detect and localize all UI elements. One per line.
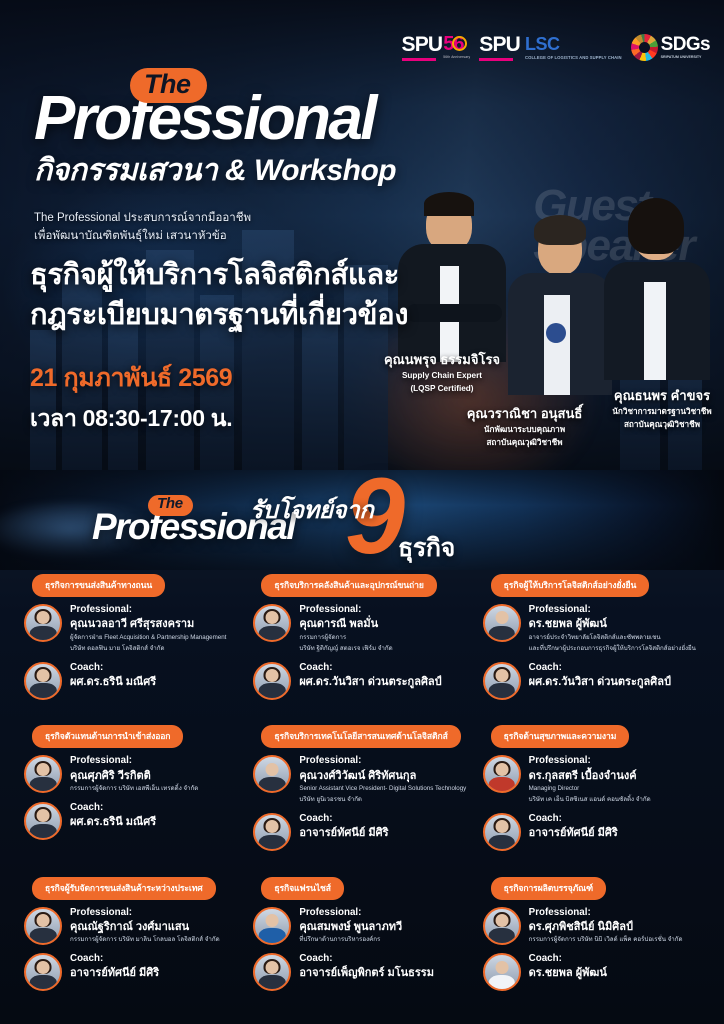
- professional-block: Professional: ดร.ศุภพิชสินีย์ นิมิศิลป์ …: [483, 907, 702, 946]
- event-date: 21 กุมภาพันธ์ 2569: [30, 358, 232, 398]
- professional-desc-1: ที่ปรึกษาด้านการบริหารองค์กร: [299, 936, 402, 945]
- coach-label: Coach:: [529, 662, 671, 674]
- coach-block: Coach: อาจารย์ทัศนีย์ มีศิริ: [253, 813, 472, 851]
- business-card[interactable]: ธุรกิจผู้ให้บริการโลจิสติกส์อย่างยั่งยืน…: [477, 570, 706, 721]
- avatar: [24, 604, 62, 642]
- coach-label: Coach:: [299, 813, 388, 825]
- avatar: [253, 662, 291, 700]
- business-card[interactable]: ธุรกิจบริการคลังสินค้าและอุปกรณ์ขนถ่าย P…: [247, 570, 476, 721]
- professional-block: Professional: คุณดารณี พลมั่น กรรมการผู้…: [253, 604, 472, 654]
- event-datetime: 21 กุมภาพันธ์ 2569 เวลา 08:30-17:00 น.: [30, 358, 232, 437]
- professional-desc-1: กรรมการผู้จัดการ บริษัท เอสพีเอ็น เทรดดิ…: [70, 785, 198, 794]
- lsc-wordmark: LSC: [525, 35, 622, 53]
- professional-label: Professional:: [529, 604, 696, 616]
- avatar: [483, 755, 521, 793]
- professional-desc-1: กรรมการผู้จัดการ: [299, 634, 392, 643]
- professional-name: ดร.ศุภพิชสินีย์ นิมิศิลป์: [529, 920, 683, 934]
- speaker-role-3-line1: นักวิชาการมาตรฐานวิชาชีพ: [600, 406, 724, 417]
- avatar: [483, 953, 521, 991]
- business-card[interactable]: ธุรกิจตัวแทนด้านการนำเข้าส่งออก Professi…: [18, 721, 247, 872]
- coach-name: ผศ.ดร.วันวิสา ด่วนตระกูลศิลป์: [299, 675, 441, 689]
- spu-wordmark: SPU: [402, 34, 443, 55]
- coach-name: ดร.ชยพล ผู้พัฒน์: [529, 966, 607, 980]
- lsc-logo: LSC COLLEGE OF LOGISTICS AND SUPPLY CHAI…: [525, 35, 622, 61]
- professional-block: Professional: ดร.กุลสตรี เบื้องจำนงค์ Ma…: [483, 755, 702, 805]
- avatar: [253, 813, 291, 851]
- sdg-wordmark: SDGs: [661, 35, 710, 54]
- coach-label: Coach:: [529, 953, 607, 965]
- headline-line-2: กฎระเบียบมาตรฐานที่เกี่ยวข้อง: [30, 295, 408, 335]
- spu-pink-bar: [402, 58, 436, 61]
- avatar: [24, 953, 62, 991]
- business-card[interactable]: ธุรกิจการผลิตบรรจุภัณฑ์ Professional: ดร…: [477, 873, 706, 1024]
- professional-desc-1: กรรมการผู้จัดการ บริษัท มาลิน โกลบอล โลจ…: [70, 936, 220, 945]
- business-grid: ธุรกิจการขนส่งสินค้าทางถนน Professional:…: [0, 570, 724, 1024]
- lsc-subtitle: COLLEGE OF LOGISTICS AND SUPPLY CHAIN: [525, 55, 622, 61]
- professional-label: Professional:: [529, 755, 651, 767]
- business-card[interactable]: ธุรกิจด้านสุขภาพและความงาม Professional:…: [477, 721, 706, 872]
- coach-block: Coach: อาจารย์ทัศนีย์ มีศิริ: [483, 813, 702, 851]
- coach-name: อาจารย์ทัศนีย์ มีศิริ: [70, 966, 159, 980]
- speaker-role-2-line1: นักพัฒนาระบบคุณภาพ: [432, 424, 617, 435]
- card-title-badge: ธุรกิจการผลิตบรรจุภัณฑ์: [491, 877, 606, 900]
- headline-line-1: ธุรกิจผู้ให้บริการโลจิสติกส์และ: [30, 255, 408, 295]
- business-card[interactable]: ธุรกิจบริการเทคโนโลยีสารสนเทศด้านโลจิสติ…: [247, 721, 476, 872]
- professional-name: คุณวงศ์วิวัฒน์ ศิริทัศนกุล: [299, 769, 466, 783]
- professional-desc-2: บริษัท ยูนิเวอรชน จำกัด: [299, 796, 466, 805]
- business-card[interactable]: ธุรกิจแฟรนไชส์ Professional: คุณสมพงษ์ พ…: [247, 873, 476, 1024]
- spu-pink-bar-2: [479, 58, 513, 61]
- coach-block: Coach: อาจารย์ทัศนีย์ มีศิริ: [24, 953, 243, 991]
- avatar: [483, 662, 521, 700]
- card-title-badge: ธุรกิจบริการเทคโนโลยีสารสนเทศด้านโลจิสติ…: [261, 725, 460, 748]
- coach-name: อาจารย์เพ็ญพิกตร์ มโนธรรม: [299, 966, 434, 980]
- professional-desc-2: และที่ปรึกษาผู้ประกอบการธุรกิจผู้ให้บริก…: [529, 645, 696, 654]
- anniversary-mark: 56 56th Anniversary: [443, 34, 470, 59]
- professional-name: คุณสมพงษ์ พูนลาภทวี: [299, 920, 402, 934]
- professional-block: Professional: คุณนวลอาวี ศรีสุรสงคราม ผู…: [24, 604, 243, 654]
- mid-the-badge: The: [148, 495, 193, 516]
- avatar: [253, 604, 291, 642]
- poster-title-block: The Professional กิจกรรมเสวนา & Workshop: [34, 70, 396, 194]
- professional-name: ดร.กุลสตรี เบื้องจำนงค์: [529, 769, 651, 783]
- poster-root: SPU 56 56th Anniversary SPU LSC COLLEGE: [0, 0, 724, 1024]
- page-subtitle: กิจกรรมเสวนา & Workshop: [34, 147, 396, 194]
- coach-block: Coach: ผศ.ดร.ธรินี มณีศรี: [24, 662, 243, 700]
- professional-name: คุณณัฐริกาณ์ วงศ์มาแสน: [70, 920, 220, 934]
- professional-label: Professional:: [70, 604, 226, 616]
- professional-label: Professional:: [299, 604, 392, 616]
- professional-label: Professional:: [529, 907, 683, 919]
- speaker-caption-1: คุณนพรุจ ธรรมจิโรจ Supply Chain Expert (…: [352, 352, 532, 394]
- spu-lsc-logo: SPU LSC COLLEGE OF LOGISTICS AND SUPPLY …: [479, 34, 621, 61]
- professional-desc-1: อาจารย์ประจำวิทยาลัยโลจิสติกส์และซัพพลาย…: [529, 634, 696, 643]
- coach-block: Coach: อาจารย์เพ็ญพิกตร์ มโนธรรม: [253, 953, 472, 991]
- avatar: [24, 755, 62, 793]
- avatar: [483, 604, 521, 642]
- professional-name: คุณศุภศิริ วีรกิตติ: [70, 769, 198, 783]
- professional-label: Professional:: [70, 755, 198, 767]
- speaker-role-3-line2: สถาบันคุณวุฒิวิชาชีพ: [600, 419, 724, 430]
- avatar: [24, 802, 62, 840]
- coach-label: Coach:: [70, 953, 159, 965]
- professional-desc-1: กรรมการผู้จัดการ บริษัท นิบิ เวิลด์ แพ็ค…: [529, 936, 683, 945]
- coach-block: Coach: ผศ.ดร.วันวิสา ด่วนตระกูลศิลป์: [253, 662, 472, 700]
- lead-line-2: เพื่อพัฒนาบัณฑิตพันธุ์ใหม่ เสวนาหัวข้อ: [34, 228, 251, 246]
- professional-block: Professional: คุณวงศ์วิวัฒน์ ศิริทัศนกุล…: [253, 755, 472, 805]
- speaker-role-1-line2: (LQSP Certified): [352, 383, 532, 394]
- card-title-badge: ธุรกิจตัวแทนด้านการนำเข้าส่งออก: [32, 725, 183, 748]
- avatar: [253, 755, 291, 793]
- sdg-logo: SDGs SRIPATUM UNIVERSITY: [631, 34, 710, 61]
- professional-desc-2: บริษัท ฐิติกัญญ์ สตอเรจ เฟิร์ม จำกัด: [299, 645, 392, 654]
- avatar: [483, 813, 521, 851]
- card-title-badge: ธุรกิจด้านสุขภาพและความงาม: [491, 725, 630, 748]
- professional-label: Professional:: [299, 907, 402, 919]
- sdg-subtitle: SRIPATUM UNIVERSITY: [661, 56, 710, 60]
- topic-headline: ธุรกิจผู้ให้บริการโลจิสติกส์และ กฎระเบีย…: [30, 255, 408, 335]
- mid-turakit-text: ธุรกิจ: [398, 528, 455, 568]
- speaker-caption-2: คุณวราณิชา อนุสนธิ์ นักพัฒนาระบบคุณภาพ ส…: [432, 406, 617, 448]
- card-title-badge: ธุรกิจผู้ให้บริการโลจิสติกส์อย่างยั่งยืน: [491, 574, 650, 597]
- business-card[interactable]: ธุรกิจการขนส่งสินค้าทางถนน Professional:…: [18, 570, 247, 721]
- professional-desc-2: บริษัท เค เอ็น บิสซิเนส แอนด์ คอนซัลติ้ง…: [529, 796, 651, 805]
- professional-label: Professional:: [299, 755, 466, 767]
- professional-desc-1: Senior Assistant Vice President- Digital…: [299, 785, 466, 794]
- lead-line-1: The Professional ประสบการณ์จากมืออาชีพ: [34, 210, 251, 228]
- logo-bar: SPU 56 56th Anniversary SPU LSC COLLEGE: [402, 34, 710, 61]
- speaker-name-3: คุณธนพร คำขจร: [600, 388, 724, 404]
- card-title-badge: ธุรกิจผู้รับจัดการขนส่งสินค้าระหว่างประเ…: [32, 877, 216, 900]
- coach-block: Coach: ดร.ชยพล ผู้พัฒน์: [483, 953, 702, 991]
- card-title-badge: ธุรกิจการขนส่งสินค้าทางถนน: [32, 574, 165, 597]
- card-title-badge: ธุรกิจแฟรนไชส์: [261, 877, 344, 900]
- professional-label: Professional:: [70, 907, 220, 919]
- coach-name: อาจารย์ทัศนีย์ มีศิริ: [529, 826, 618, 840]
- skyline-building: [302, 310, 338, 480]
- coach-name: อาจารย์ทัศนีย์ มีศิริ: [299, 826, 388, 840]
- speaker-name-1: คุณนพรุจ ธรรมจิโรจ: [352, 352, 532, 368]
- coach-label: Coach:: [70, 662, 156, 674]
- professional-block: Professional: คุณศุภศิริ วีรกิตติ กรรมกา…: [24, 755, 243, 794]
- coach-label: Coach:: [529, 813, 618, 825]
- coach-label: Coach:: [299, 662, 441, 674]
- coach-name: ผศ.ดร.ธรินี มณีศรี: [70, 815, 156, 829]
- professional-name: คุณนวลอาวี ศรีสุรสงคราม: [70, 617, 226, 631]
- lead-paragraph: The Professional ประสบการณ์จากมืออาชีพ เ…: [34, 210, 251, 246]
- professional-name: ดร.ชยพล ผู้พัฒน์: [529, 617, 696, 631]
- coach-label: Coach:: [70, 802, 156, 814]
- professional-block: Professional: ดร.ชยพล ผู้พัฒน์ อาจารย์ปร…: [483, 604, 702, 654]
- speaker-photo-1: [392, 192, 512, 362]
- professional-desc-1: ผู้จัดการฝ่าย Fleet Acquisition & Partne…: [70, 634, 226, 643]
- avatar: [483, 907, 521, 945]
- professional-name: คุณดารณี พลมั่น: [299, 617, 392, 631]
- anniversary-caption: 56th Anniversary: [443, 55, 470, 59]
- professional-block: Professional: คุณณัฐริกาณ์ วงศ์มาแสน กรร…: [24, 907, 243, 946]
- card-title-badge: ธุรกิจบริการคลังสินค้าและอุปกรณ์ขนถ่าย: [261, 574, 436, 597]
- the-badge: The: [130, 68, 207, 103]
- page-title: Professional: [34, 90, 396, 149]
- avatar: [253, 953, 291, 991]
- spu-56-logo: SPU 56 56th Anniversary: [402, 34, 471, 61]
- coach-name: ผศ.ดร.วันวิสา ด่วนตระกูลศิลป์: [529, 675, 671, 689]
- speaker-role-1-line1: Supply Chain Expert: [352, 370, 532, 381]
- coach-block: Coach: ผศ.ดร.ธรินี มณีศรี: [24, 802, 243, 840]
- sdg-wheel-icon: [631, 34, 658, 61]
- mid-rub-jot-text: รับโจทย์จาก: [250, 490, 373, 529]
- avatar: [24, 662, 62, 700]
- professional-desc-2: บริษัท ดอลฟิน มาย โลจิสติกส์ จำกัด: [70, 645, 226, 654]
- professional-desc-1: Managing Director: [529, 785, 651, 794]
- avatar: [24, 907, 62, 945]
- speaker-role-2-line2: สถาบันคุณวุฒิวิชาชีพ: [432, 437, 617, 448]
- event-time: เวลา 08:30-17:00 น.: [30, 401, 232, 437]
- coach-label: Coach:: [299, 953, 434, 965]
- coach-name: ผศ.ดร.ธรินี มณีศรี: [70, 675, 156, 689]
- professional-block: Professional: คุณสมพงษ์ พูนลาภทวี ที่ปรึ…: [253, 907, 472, 946]
- avatar: [253, 907, 291, 945]
- coach-block: Coach: ผศ.ดร.วันวิสา ด่วนตระกูลศิลป์: [483, 662, 702, 700]
- business-card[interactable]: ธุรกิจผู้รับจัดการขนส่งสินค้าระหว่างประเ…: [18, 873, 247, 1024]
- speaker-caption-3: คุณธนพร คำขจร นักวิชาการมาตรฐานวิชาชีพ ส…: [600, 388, 724, 430]
- speaker-photo-3: [598, 198, 716, 380]
- spu-wordmark-2: SPU: [479, 34, 520, 55]
- speaker-name-2: คุณวราณิชา อนุสนธิ์: [432, 406, 617, 422]
